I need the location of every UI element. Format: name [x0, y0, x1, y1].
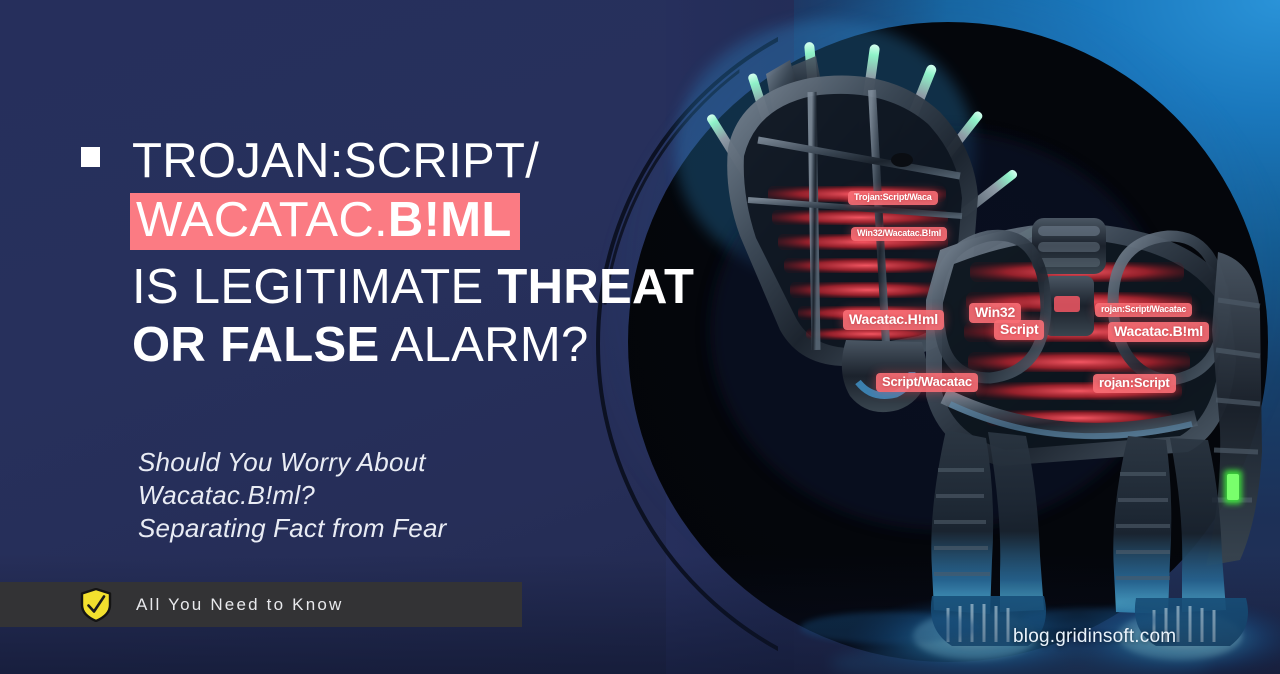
threat-label: rojan:Script/Wacatac — [1095, 303, 1192, 317]
headline-line-3: IS LEGITIMATE THREAT — [132, 258, 732, 316]
site-watermark: blog.gridinsoft.com — [1013, 626, 1176, 648]
threat-label: Script/Wacatac — [876, 373, 978, 392]
subtitle: Should You Worry About Wacatac.B!ml? Sep… — [138, 446, 446, 545]
headline-line-1: TROJAN:SCRIPT/ — [132, 132, 732, 190]
all-you-need-to-know-bar: All You Need to Know — [0, 582, 522, 627]
bullet-square-marker — [81, 147, 100, 167]
headline-line-4-normal: ALARM? — [379, 318, 588, 372]
headline-line-4: OR FALSE ALARM? — [132, 316, 732, 374]
headline-line-3-normal: IS LEGITIMATE — [132, 260, 497, 314]
headline-line-2-bold: B!ML — [388, 193, 512, 247]
headline-line-4-bold: OR FALSE — [132, 318, 379, 372]
bottom-bar-label: All You Need to Know — [136, 595, 344, 615]
headline-line-2-highlight: WACATAC.B!ML — [130, 193, 520, 250]
shield-check-icon — [80, 588, 112, 622]
page-title: TROJAN:SCRIPT/ WACATAC.B!ML IS LEGITIMAT… — [132, 132, 732, 374]
headline-line-3-bold: THREAT — [497, 260, 694, 314]
headline-line-2-normal: WACATAC. — [136, 193, 388, 247]
threat-label: Trojan:Script/Waca — [848, 191, 938, 205]
threat-label: rojan:Script — [1093, 374, 1176, 393]
banner-image: Trojan:Script/Waca Win32/Wacatac.B!ml Wa… — [0, 0, 1280, 674]
threat-label: Wacatac.H!ml — [843, 310, 944, 330]
threat-label: Script — [994, 320, 1044, 340]
threat-label: Wacatac.B!ml — [1108, 322, 1209, 342]
threat-label: Win32/Wacatac.B!ml — [851, 227, 947, 241]
